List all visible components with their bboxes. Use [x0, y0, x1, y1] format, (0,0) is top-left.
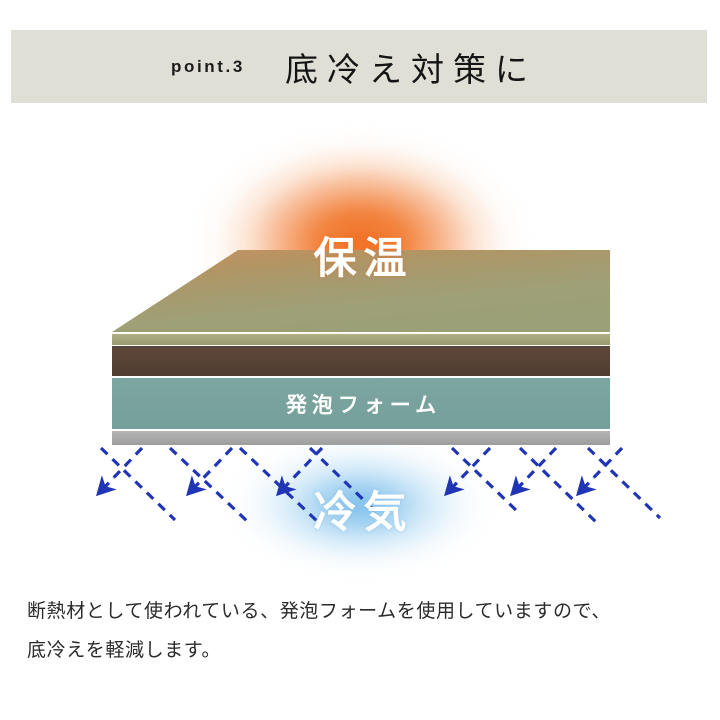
header-banner: point.3 底冷え対策に — [11, 30, 707, 103]
heat-retention-label: 保温 — [0, 224, 720, 286]
page-title: 底冷え対策に — [285, 43, 537, 91]
cold-air-label: 冷気 — [0, 478, 720, 540]
caption-line-2: 底冷えを軽減します。 — [27, 631, 697, 670]
insulation-diagram: 発泡フォーム 保温 冷気 — [0, 120, 720, 570]
point-label: point.3 — [171, 57, 245, 77]
caption-text: 断熱材として使われている、発泡フォームを使用していますので、 底冷えを軽減します… — [27, 592, 697, 670]
caption-line-1: 断熱材として使われている、発泡フォームを使用していますので、 — [27, 592, 697, 631]
